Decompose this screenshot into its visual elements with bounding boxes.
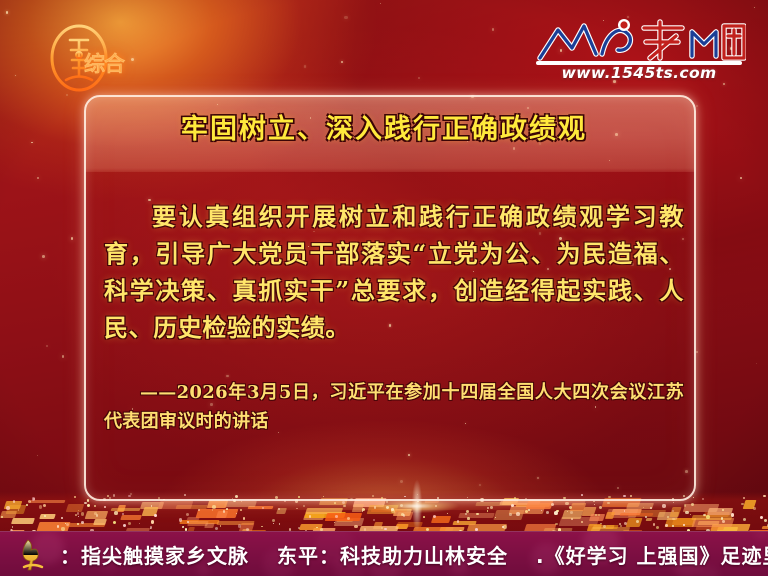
confetti-spark xyxy=(722,509,724,511)
confetti-spark xyxy=(706,515,710,519)
confetti-spark xyxy=(104,506,106,508)
confetti-spark xyxy=(743,497,745,499)
confetti-spark xyxy=(198,509,200,511)
confetti-spark xyxy=(43,504,47,508)
confetti-spark xyxy=(186,513,189,516)
confetti-spark xyxy=(433,515,436,518)
confetti-spark xyxy=(240,509,242,511)
confetti-spark xyxy=(347,517,350,520)
confetti-flake xyxy=(619,513,653,516)
confetti-spark xyxy=(435,505,437,507)
confetti-spark xyxy=(384,528,387,531)
confetti-spark xyxy=(502,526,503,527)
news-ticker-bar[interactable]: ：指尖触摸家乡文脉东平：科技助力山林安全.《好学习 上强国》足迹里的政 xyxy=(0,531,768,576)
confetti-flake xyxy=(475,502,513,506)
confetti-spark xyxy=(447,513,448,514)
confetti-spark xyxy=(77,512,79,514)
confetti-spark xyxy=(26,504,28,506)
confetti-spark xyxy=(272,519,275,522)
confetti-spark xyxy=(423,516,425,518)
confetti-flake xyxy=(204,523,215,528)
confetti-spark xyxy=(665,524,668,527)
confetti-spark xyxy=(12,526,13,527)
station-url: www.1545ts.com xyxy=(532,64,746,82)
confetti-spark xyxy=(511,504,514,507)
confetti-flake xyxy=(158,501,194,509)
confetti-spark xyxy=(598,514,600,516)
confetti-flake xyxy=(216,521,254,525)
confetti-spark xyxy=(243,517,245,519)
confetti-spark xyxy=(374,506,376,508)
confetti-spark xyxy=(354,525,358,529)
quote-attribution: ——2026年3月5日，习近平在参加十四届全国人大四次会议江苏代表团审议时的讲话 xyxy=(104,378,684,436)
confetti-spark xyxy=(87,504,90,507)
confetti-spark xyxy=(335,515,338,518)
confetti-spark xyxy=(150,526,153,529)
confetti-spark xyxy=(607,502,610,505)
confetti-spark xyxy=(650,507,653,510)
confetti-spark xyxy=(303,505,305,507)
confetti-spark xyxy=(403,514,405,516)
confetti-flake xyxy=(206,500,228,508)
confetti-spark xyxy=(503,525,506,528)
confetti-spark xyxy=(487,507,489,509)
confetti-spark xyxy=(702,498,704,500)
confetti-spark xyxy=(595,514,597,516)
ticker-items[interactable]: ：指尖触摸家乡文脉东平：科技助力山林安全.《好学习 上强国》足迹里的政 xyxy=(60,540,768,569)
confetti-spark xyxy=(693,497,694,498)
confetti-flake xyxy=(30,500,66,503)
confetti-spark xyxy=(551,503,554,506)
confetti-spark xyxy=(154,514,157,517)
confetti-spark xyxy=(516,512,520,516)
confetti-spark xyxy=(490,506,493,509)
confetti-flake xyxy=(645,518,652,521)
confetti-spark xyxy=(39,505,42,508)
confetti-spark xyxy=(113,521,116,524)
confetti-spark xyxy=(343,505,346,508)
confetti-spark xyxy=(262,507,263,508)
page-title: 牢固树立、深入践行正确政绩观 xyxy=(0,116,768,143)
confetti-spark xyxy=(220,525,222,527)
confetti-spark xyxy=(279,523,280,524)
confetti-spark xyxy=(6,506,10,510)
ticker-item[interactable]: 东平：科技助力山林安全 xyxy=(277,540,508,569)
confetti-spark xyxy=(487,510,489,512)
confetti-spark xyxy=(212,509,213,510)
confetti-spark xyxy=(570,511,573,514)
confetti-spark xyxy=(662,504,665,507)
confetti-flake xyxy=(324,513,362,521)
confetti-spark xyxy=(381,527,383,529)
taishan-net-logo-icon xyxy=(532,14,746,66)
confetti-spark xyxy=(684,504,686,506)
confetti-spark xyxy=(236,513,237,514)
confetti-spark xyxy=(114,511,118,515)
confetti-spark xyxy=(703,514,705,516)
confetti-spark xyxy=(763,495,765,497)
confetti-spark xyxy=(94,505,96,507)
ticker-item[interactable]: ：指尖触摸家乡文脉 xyxy=(60,540,249,569)
confetti-spark xyxy=(569,506,572,509)
confetti-spark xyxy=(594,504,595,505)
confetti-spark xyxy=(298,527,300,529)
attribution-text: ——2026年3月5日，习近平在参加十四届全国人大四次会议江苏代表团审议时的讲话 xyxy=(104,378,684,436)
confetti-spark xyxy=(599,506,602,509)
confetti-spark xyxy=(753,507,756,510)
confetti-spark xyxy=(391,509,394,512)
confetti-spark xyxy=(685,511,688,514)
quote-body: 要认真组织开展树立和践行正确政绩观学习教育，引导广大党员干部落实“立党为公、为民… xyxy=(104,198,684,346)
confetti-spark xyxy=(509,513,512,516)
confetti-flake xyxy=(467,524,508,531)
confetti-spark xyxy=(1,516,3,518)
confetti-spark xyxy=(467,517,470,520)
confetti-spark xyxy=(653,523,655,525)
confetti-spark xyxy=(673,502,674,503)
confetti-spark xyxy=(215,527,218,530)
confetti-flake xyxy=(691,515,733,520)
confetti-flake xyxy=(39,514,56,519)
confetti-spark xyxy=(151,520,154,523)
confetti-spark xyxy=(123,524,126,527)
confetti-spark xyxy=(261,526,262,527)
confetti-flake xyxy=(605,525,619,529)
confetti-spark xyxy=(296,508,298,510)
confetti-spark xyxy=(212,505,216,509)
confetti-spark xyxy=(87,499,90,502)
confetti-spark xyxy=(75,514,77,516)
confetti-spark xyxy=(546,511,549,514)
confetti-flake xyxy=(625,518,642,527)
confetti-spark xyxy=(238,524,241,527)
confetti-spark xyxy=(465,513,467,515)
confetti-spark xyxy=(373,519,375,521)
confetti-spark xyxy=(187,521,189,523)
confetti-spark xyxy=(690,514,691,515)
confetti-spark xyxy=(554,511,558,515)
confetti-spark xyxy=(334,502,336,504)
confetti-spark xyxy=(731,513,734,516)
confetti-spark xyxy=(571,518,573,520)
confetti-flake xyxy=(669,507,682,517)
channel-sub-label: 综合 xyxy=(84,54,124,75)
confetti-spark xyxy=(74,496,76,498)
confetti-spark xyxy=(61,517,63,519)
confetti-spark xyxy=(656,526,659,529)
confetti-spark xyxy=(128,522,131,525)
confetti-flake xyxy=(66,504,85,512)
confetti-spark xyxy=(400,504,403,507)
quote-paragraph: 要认真组织开展树立和践行正确政绩观学习教育，引导广大党员干部落实“立党为公、为民… xyxy=(104,198,684,346)
confetti-spark xyxy=(743,518,747,522)
confetti-spark xyxy=(139,523,140,524)
confetti-spark xyxy=(273,523,274,524)
confetti-spark xyxy=(528,509,530,511)
confetti-spark xyxy=(672,525,674,527)
confetti-spark xyxy=(77,523,79,525)
confetti-spark xyxy=(81,512,84,515)
confetti-spark xyxy=(226,508,228,510)
confetti-flake xyxy=(120,515,142,520)
confetti-flake xyxy=(396,522,423,527)
ticker-blob xyxy=(755,531,767,540)
confetti-spark xyxy=(309,515,312,518)
confetti-flake xyxy=(93,519,107,525)
confetti-spark xyxy=(78,516,79,517)
confetti-spark xyxy=(183,526,184,527)
confetti-spark xyxy=(722,520,725,523)
tv-broadcast-screen: 综合 www.1545ts.com xyxy=(0,0,768,576)
ticker-item[interactable]: .《好学习 上强国》足迹里的政 xyxy=(536,540,768,569)
confetti-spark xyxy=(764,519,767,522)
torch-emblem-icon xyxy=(14,534,54,574)
confetti-spark xyxy=(760,516,763,519)
station-watermark: www.1545ts.com xyxy=(532,14,746,88)
confetti-flake xyxy=(11,518,35,524)
confetti-spark xyxy=(565,502,568,505)
